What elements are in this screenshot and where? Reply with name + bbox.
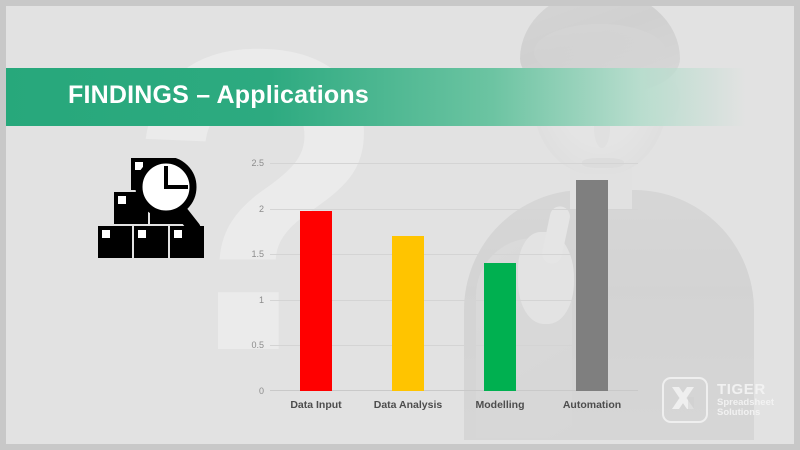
y-tick-label: 0 (259, 386, 264, 396)
bar-series (270, 163, 638, 391)
bar-cell (362, 163, 454, 391)
bar-cell (546, 163, 638, 391)
x-axis-label: Data Analysis (362, 399, 454, 411)
tiger-logo-text: TIGER Spreadsheet Solutions (717, 382, 774, 418)
y-tick-label: 1.5 (251, 249, 264, 259)
x-axis-label: Modelling (454, 399, 546, 411)
x-axis-label: Data Input (270, 399, 362, 411)
bar-data-input (300, 211, 332, 391)
bar-chart: 2.5 2 1.5 1 0.5 0 Data InputData Analysi… (238, 156, 638, 416)
x-axis-labels: Data InputData AnalysisModellingAutomati… (270, 399, 638, 411)
page-title: FINDINGS – Applications (68, 81, 369, 110)
y-tick-label: 2 (259, 204, 264, 214)
y-tick-label: 2.5 (251, 158, 264, 168)
slide: ? FINDINGS – Applications (6, 6, 794, 444)
bar-data-analysis (392, 236, 424, 391)
bar-cell (270, 163, 362, 391)
bar-automation (576, 180, 608, 391)
tiger-x-mark-icon (662, 377, 708, 423)
x-axis-label: Automation (546, 399, 638, 411)
logo-sub-line2: Solutions (717, 408, 774, 418)
y-tick-label: 1 (259, 295, 264, 305)
boxes-magnifier-icon (98, 158, 210, 260)
plot-area: 2.5 2 1.5 1 0.5 0 (270, 163, 638, 391)
bar-modelling (484, 263, 516, 391)
bar-cell (454, 163, 546, 391)
y-tick-label: 0.5 (251, 340, 264, 350)
tiger-logo: TIGER Spreadsheet Solutions (662, 374, 788, 426)
logo-name: TIGER (717, 382, 774, 398)
